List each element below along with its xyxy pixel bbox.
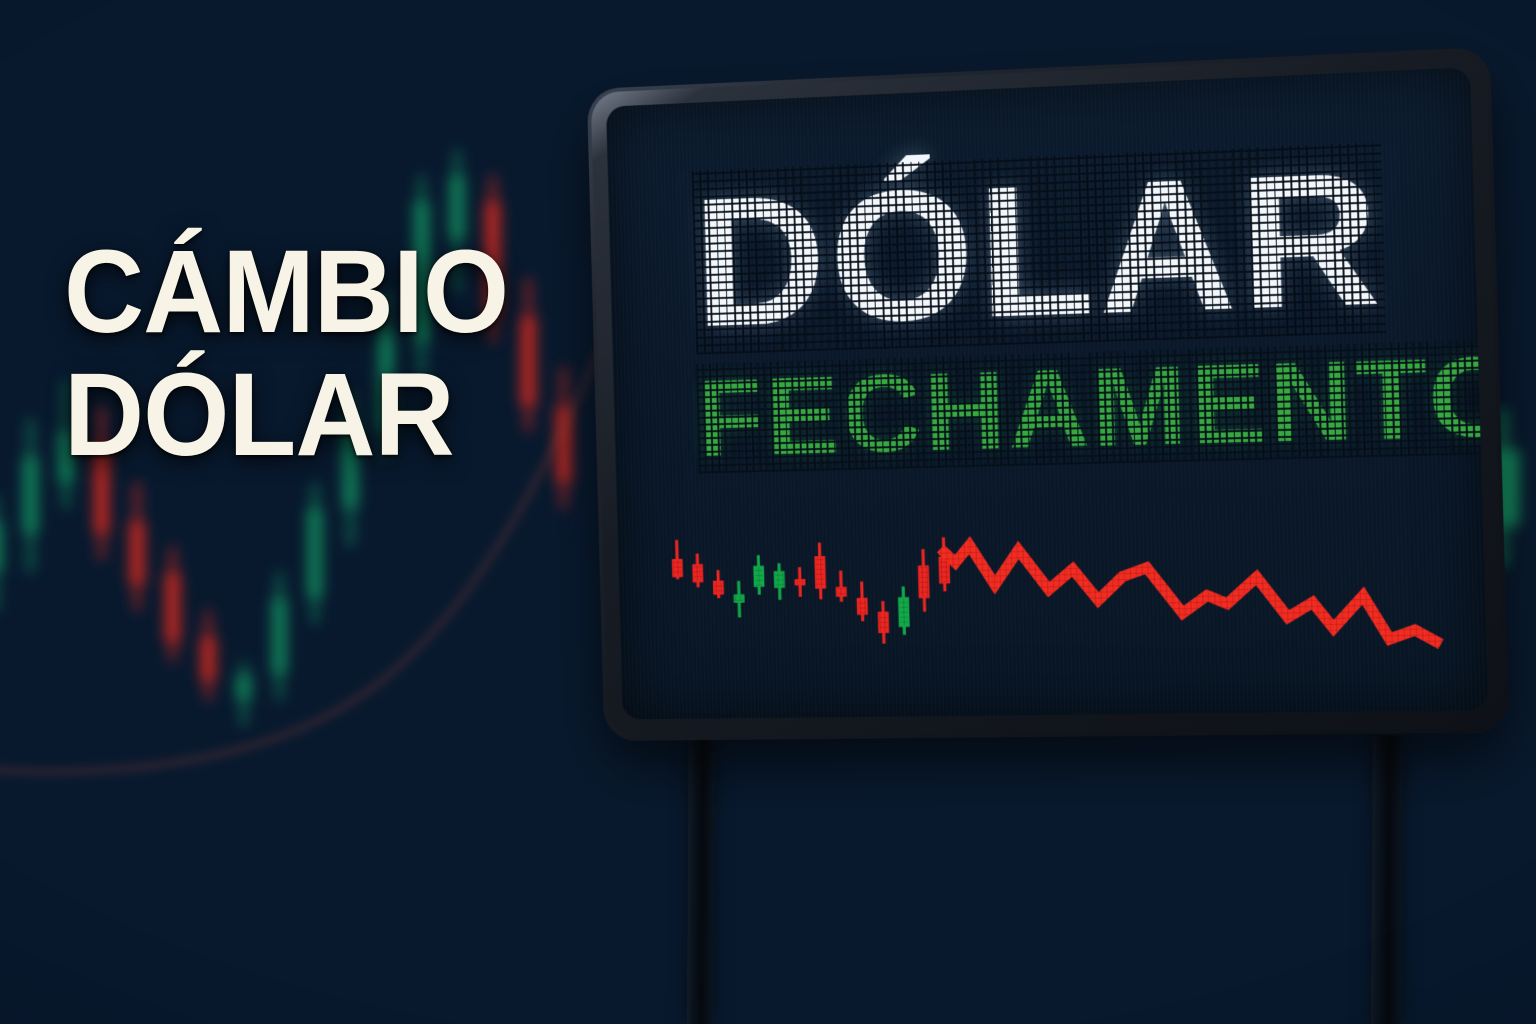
- sign-post-right: [1371, 736, 1403, 1024]
- headline-line-1: CÁMBIO: [64, 238, 553, 347]
- led-display-panel: DÓLAR FECHAMENTO: [606, 67, 1488, 719]
- headline-line-2: DÓLAR: [64, 361, 553, 470]
- led-subtitle-text: FECHAMENTO: [695, 332, 1488, 480]
- billboard-candlestick-chart: [653, 506, 1453, 718]
- page-title: CÁMBIO DÓLAR: [64, 238, 584, 469]
- billboard-sign: DÓLAR FECHAMENTO: [587, 47, 1510, 741]
- sign-post-left: [687, 700, 715, 1024]
- led-title-text: DÓLAR: [691, 131, 1386, 365]
- led-title-dolar: DÓLAR: [692, 142, 1387, 354]
- scene-root: CÁMBIO DÓLAR DÓLAR FECHAMENTO: [0, 0, 1536, 1024]
- led-subtitle-fechamento: FECHAMENTO: [696, 339, 1489, 474]
